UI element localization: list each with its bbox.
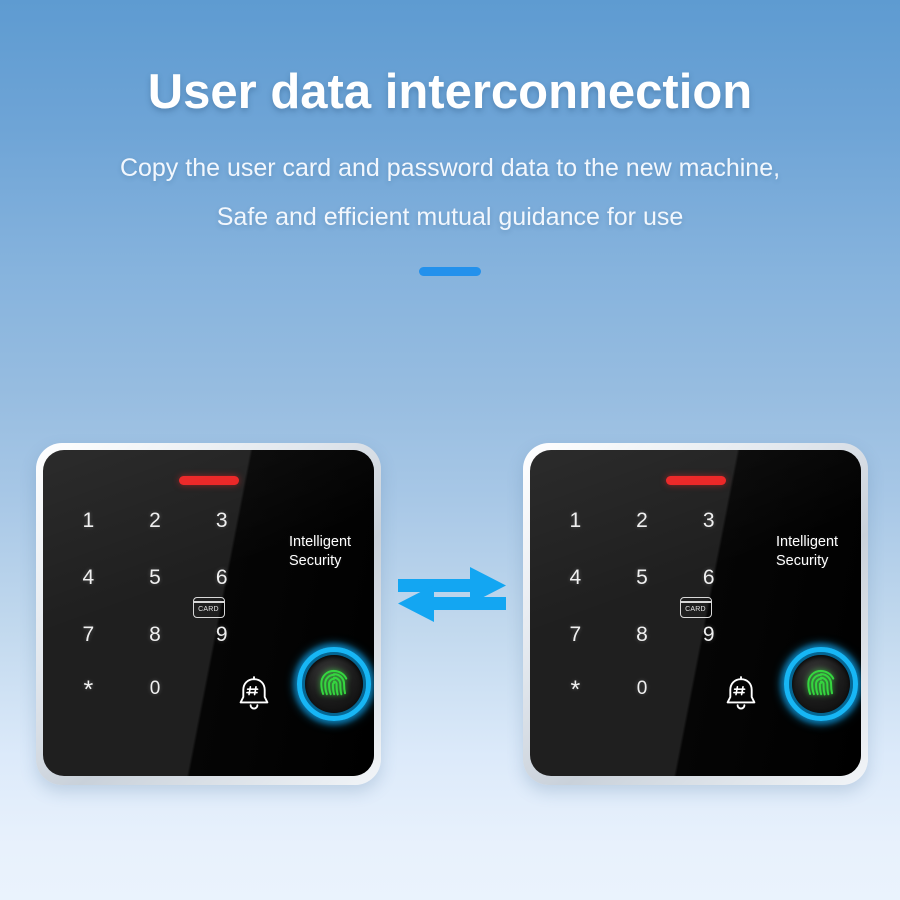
keypad-row: 4 5 6 [542, 563, 742, 593]
device-stage: 1 2 3 4 5 6 7 8 9 * [0, 443, 900, 793]
access-control-device-target[interactable]: 1 2 3 4 5 6 7 8 9 * [523, 443, 868, 785]
key-8[interactable]: 8 [609, 620, 676, 650]
key-7[interactable]: 7 [542, 620, 609, 650]
key-4[interactable]: 4 [542, 563, 609, 593]
key-4[interactable]: 4 [55, 563, 122, 593]
brand-line-2: Security [776, 553, 828, 569]
key-9[interactable]: 9 [675, 620, 742, 650]
subtitle-line-2: Safe and efficient mutual guidance for u… [217, 203, 684, 231]
keypad-row: 1 2 3 [55, 506, 255, 536]
divider [0, 267, 900, 276]
keypad-row: 1 2 3 [542, 506, 742, 536]
card-icon-label: CARD [198, 606, 219, 613]
brand-line-2: Security [289, 553, 341, 569]
doorbell-icon[interactable] [724, 676, 758, 712]
key-asterisk[interactable]: * [542, 674, 609, 704]
subtitle-line-1: Copy the user card and password data to … [120, 154, 780, 182]
key-2[interactable]: 2 [609, 506, 676, 536]
bell-icon-glyph [724, 676, 758, 712]
transfer-arrows-glyph [398, 557, 506, 625]
fingerprint-icon [313, 663, 355, 705]
key-1[interactable]: 1 [542, 506, 609, 536]
key-3[interactable]: 3 [675, 506, 742, 536]
key-8[interactable]: 8 [122, 620, 189, 650]
card-reader-icon[interactable]: CARD [680, 597, 712, 618]
status-led-indicator [666, 476, 726, 485]
doorbell-icon[interactable] [237, 676, 271, 712]
card-icon-label: CARD [685, 606, 706, 613]
fingerprint-recess [305, 655, 363, 713]
key-9[interactable]: 9 [188, 620, 255, 650]
fingerprint-recess [792, 655, 850, 713]
key-5[interactable]: 5 [122, 563, 189, 593]
divider-bar [419, 267, 481, 276]
brand-line-1: Intelligent [289, 534, 351, 550]
keypad-row: * 0 [55, 674, 255, 704]
key-6[interactable]: 6 [675, 563, 742, 593]
key-0[interactable]: 0 [122, 674, 189, 704]
page-title: User data interconnection [0, 0, 900, 120]
bidirectional-transfer-arrows [398, 557, 506, 625]
card-reader-icon[interactable]: CARD [193, 597, 225, 618]
key-0[interactable]: 0 [609, 674, 676, 704]
key-6[interactable]: 6 [188, 563, 255, 593]
card-icon-stripe [681, 601, 711, 602]
access-control-device-source[interactable]: 1 2 3 4 5 6 7 8 9 * [36, 443, 381, 785]
brand-label: Intelligent Security [776, 533, 838, 570]
keypad-row: * 0 [542, 674, 742, 704]
fingerprint-sensor[interactable] [292, 642, 374, 726]
header: User data interconnection Copy the user … [0, 0, 900, 241]
fingerprint-sensor[interactable] [779, 642, 861, 726]
card-icon-stripe [194, 601, 224, 602]
brand-label: Intelligent Security [289, 533, 351, 570]
device-face: 1 2 3 4 5 6 7 8 9 * [530, 450, 861, 776]
keypad-row: 7 8 9 [542, 620, 742, 650]
bell-icon-glyph [237, 676, 271, 712]
keypad-row: 4 5 6 [55, 563, 255, 593]
promo-page: User data interconnection Copy the user … [0, 0, 900, 900]
keypad-row: 7 8 9 [55, 620, 255, 650]
device-face: 1 2 3 4 5 6 7 8 9 * [43, 450, 374, 776]
keypad[interactable]: 1 2 3 4 5 6 7 8 9 * [542, 506, 742, 738]
key-2[interactable]: 2 [122, 506, 189, 536]
fingerprint-icon [800, 663, 842, 705]
brand-line-1: Intelligent [776, 534, 838, 550]
keypad[interactable]: 1 2 3 4 5 6 7 8 9 * [55, 506, 255, 738]
key-3[interactable]: 3 [188, 506, 255, 536]
key-asterisk[interactable]: * [55, 674, 122, 704]
key-7[interactable]: 7 [55, 620, 122, 650]
key-5[interactable]: 5 [609, 563, 676, 593]
page-subtitle: Copy the user card and password data to … [0, 120, 900, 242]
status-led-indicator [179, 476, 239, 485]
key-1[interactable]: 1 [55, 506, 122, 536]
